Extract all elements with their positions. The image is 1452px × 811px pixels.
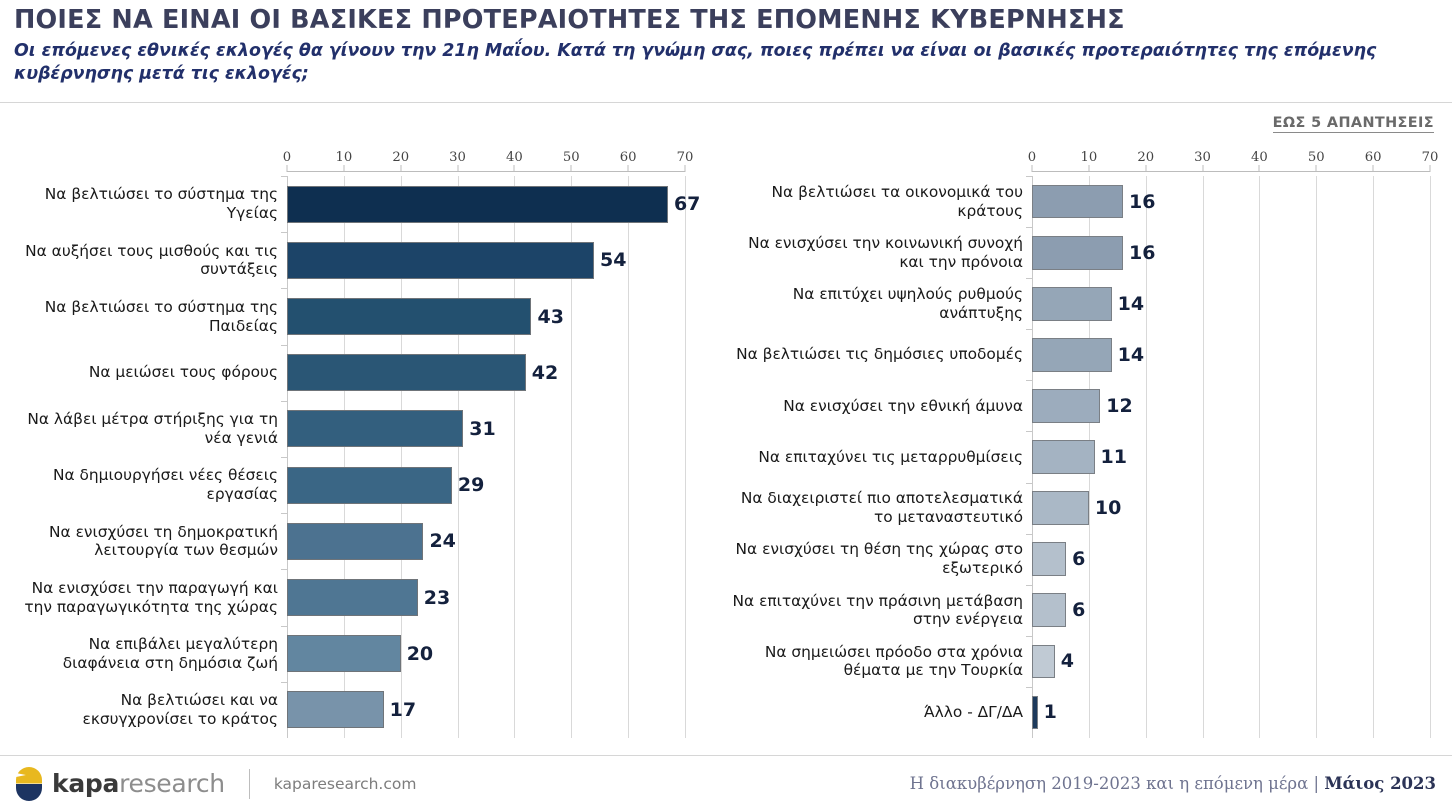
bar-value-label: 17 (390, 699, 416, 721)
bar[interactable]: 29 (287, 467, 452, 504)
chart-row: Να επιτύχει υψηλούς ρυθμούς ανάπτυξης14 (1032, 278, 1430, 329)
x-tick-mark (287, 165, 288, 172)
category-label: Να επιβάλει μεγαλύτερη διαφάνεια στη δημ… (7, 635, 287, 673)
logo-url[interactable]: kaparesearch.com (274, 775, 417, 793)
bar-value-label: 1 (1044, 701, 1057, 723)
x-tick-label: 20 (392, 150, 409, 165)
bar-value-label: 14 (1118, 344, 1144, 366)
x-tick-label: 20 (1137, 150, 1154, 165)
x-tick-mark (1430, 165, 1431, 172)
chart-row: Άλλο - ΔΓ/ΔΑ1 (1032, 687, 1430, 738)
bar-value-label: 4 (1061, 650, 1074, 672)
x-tick-mark (571, 165, 572, 172)
bar[interactable]: 20 (287, 635, 401, 672)
category-label: Να ενισχύσει την κοινωνική συνοχή και τη… (727, 234, 1032, 272)
footer-study-info: Η διακυβέρνηση 2019-2023 και η επόμενη μ… (910, 774, 1436, 793)
x-tick-label: 60 (1365, 150, 1382, 165)
x-tick-label: 0 (283, 150, 291, 165)
bar[interactable]: 31 (287, 410, 463, 447)
x-tick-label: 10 (335, 150, 352, 165)
x-tick-label: 10 (1080, 150, 1097, 165)
chart-row: Να ενισχύσει την εθνική άμυνα12 (1032, 380, 1430, 431)
bar[interactable]: 43 (287, 298, 531, 335)
x-tick-mark (343, 165, 344, 172)
x-tick-mark (1373, 165, 1374, 172)
bar[interactable]: 6 (1032, 542, 1066, 576)
page-subtitle: Οι επόμενες εθνικές εκλογές θα γίνουν τη… (14, 40, 1438, 87)
answer-limit-note: ΕΩΣ 5 ΑΠΑΝΤΗΣΕΙΣ (1273, 115, 1434, 133)
chart-row: Να βελτιώσει τα οικονομικά του κράτους16 (1032, 176, 1430, 227)
category-label: Να ενισχύσει τη θέση της χώρας στο εξωτε… (727, 540, 1032, 578)
chart-row: Να βελτιώσει το σύστημα της Παιδείας43 (287, 288, 685, 344)
bar[interactable]: 10 (1032, 491, 1089, 525)
chart-row: Να διαχειριστεί πιο αποτελεσματικά το με… (1032, 483, 1430, 534)
x-tick-mark (1145, 165, 1146, 172)
category-label: Να βελτιώσει το σύστημα της Παιδείας (7, 298, 287, 336)
logo-wordmark: kaparesearch (52, 771, 225, 796)
chart-row: Να επιταχύνει την πράσινη μετάβαση στην … (1032, 585, 1430, 636)
bar[interactable]: 23 (287, 579, 418, 616)
x-tick-mark (1202, 165, 1203, 172)
x-tick-mark (1316, 165, 1317, 172)
chart-row: Να βελτιώσει το σύστημα της Υγείας67 (287, 176, 685, 232)
bar-value-label: 54 (600, 249, 626, 271)
chart-row: Να βελτιώσει και να εκσυγχρονίσει το κρά… (287, 682, 685, 738)
bar[interactable]: 16 (1032, 185, 1123, 219)
bar-value-label: 67 (674, 193, 700, 215)
bar[interactable]: 6 (1032, 593, 1066, 627)
bar[interactable]: 14 (1032, 287, 1112, 321)
bar-value-label: 43 (537, 306, 563, 328)
category-label: Να ενισχύσει την παραγωγή και την παραγω… (7, 579, 287, 617)
x-tick-label: 30 (449, 150, 466, 165)
x-tick-label: 60 (620, 150, 637, 165)
category-label: Να βελτιώσει τα οικονομικά του κράτους (727, 183, 1032, 221)
logo-separator (249, 769, 250, 799)
x-tick-label: 40 (1251, 150, 1268, 165)
x-tick-mark (1088, 165, 1089, 172)
bar[interactable]: 67 (287, 186, 668, 223)
bar[interactable]: 4 (1032, 645, 1055, 679)
chart-row: Να ενισχύσει την παραγωγή και την παραγω… (287, 569, 685, 625)
category-label: Να ενισχύσει τη δημοκρατική λειτουργία τ… (7, 523, 287, 561)
bar[interactable]: 16 (1032, 236, 1123, 270)
category-label: Να ενισχύσει την εθνική άμυνα (727, 397, 1032, 416)
chart-row: Να ενισχύσει τη δημοκρατική λειτουργία τ… (287, 513, 685, 569)
footer-study-title: Η διακυβέρνηση 2019-2023 και η επόμενη μ… (910, 774, 1325, 793)
category-label: Να αυξήσει τους μισθούς και τις συντάξει… (7, 242, 287, 280)
chart-page: ΠΟΙΕΣ ΝΑ ΕΙΝΑΙ ΟΙ ΒΑΣΙΚΕΣ ΠΡΟΤΕΡΑΙΟΤΗΤΕΣ… (0, 0, 1452, 811)
category-label: Να επιταχύνει τις μεταρρυθμίσεις (727, 448, 1032, 467)
plot-area-left: Να βελτιώσει το σύστημα της Υγείας67Να α… (287, 176, 685, 738)
footer-date: Μάιος 2023 (1324, 774, 1436, 793)
gridline (1430, 176, 1431, 738)
chart-row: Να λάβει μέτρα στήριξης για τη νέα γενιά… (287, 401, 685, 457)
answer-limit-note-wrap: ΕΩΣ 5 ΑΠΑΝΤΗΣΕΙΣ (1273, 112, 1434, 133)
chart-row: Να βελτιώσει τις δημόσιες υποδομές14 (1032, 329, 1430, 380)
bar[interactable]: 54 (287, 242, 594, 279)
bar[interactable]: 14 (1032, 338, 1112, 372)
category-label: Να σημειώσει πρόοδο στα χρόνια θέματα με… (727, 643, 1032, 681)
x-axis-right: 010203040506070 (1032, 150, 1430, 176)
category-label: Να βελτιώσει και να εκσυγχρονίσει το κρά… (7, 691, 287, 729)
x-tick-label: 50 (563, 150, 580, 165)
x-tick-mark (514, 165, 515, 172)
logo-text-bold: kapa (52, 769, 119, 798)
chart-row: Να μειώσει τους φόρους42 (287, 345, 685, 401)
plot-area-right: Να βελτιώσει τα οικονομικά του κράτους16… (1032, 176, 1430, 738)
x-tick-label: 70 (677, 150, 694, 165)
x-tick-label: 70 (1422, 150, 1439, 165)
bar-value-label: 12 (1106, 395, 1132, 417)
chart-row: Να ενισχύσει την κοινωνική συνοχή και τη… (1032, 227, 1430, 278)
bar-value-label: 29 (458, 474, 484, 496)
chart-row: Να αυξήσει τους μισθούς και τις συντάξει… (287, 232, 685, 288)
bar-value-label: 16 (1129, 242, 1155, 264)
bar[interactable]: 42 (287, 354, 526, 391)
bar[interactable]: 24 (287, 523, 423, 560)
bar[interactable]: 11 (1032, 440, 1095, 474)
x-tick-mark (628, 165, 629, 172)
bar-value-label: 24 (429, 530, 455, 552)
charts-container: 010203040506070 Να βελτιώσει το σύστημα … (0, 150, 1452, 750)
bar-value-label: 6 (1072, 548, 1085, 570)
bar-value-label: 14 (1118, 293, 1144, 315)
x-tick-mark (400, 165, 401, 172)
bar-value-label: 6 (1072, 599, 1085, 621)
category-label: Να δημιουργήσει νέες θέσεις εργασίας (7, 466, 287, 504)
category-label: Να μειώσει τους φόρους (7, 363, 287, 382)
chart-row: Να επιβάλει μεγαλύτερη διαφάνεια στη δημ… (287, 626, 685, 682)
bar-value-label: 42 (532, 362, 558, 384)
chart-panel-left: 010203040506070 Να βελτιώσει το σύστημα … (6, 150, 718, 750)
x-tick-mark (1032, 165, 1033, 172)
x-tick-mark (1259, 165, 1260, 172)
bar[interactable]: 1 (1032, 696, 1038, 730)
category-label: Να επιτύχει υψηλούς ρυθμούς ανάπτυξης (727, 285, 1032, 323)
footer: kaparesearch kaparesearch.com Η διακυβέρ… (0, 755, 1452, 811)
x-tick-label: 50 (1308, 150, 1325, 165)
logo-text-light: research (119, 769, 225, 798)
category-label: Να επιταχύνει την πράσινη μετάβαση στην … (727, 592, 1032, 630)
bar[interactable]: 12 (1032, 389, 1100, 423)
bar-value-label: 31 (469, 418, 495, 440)
x-tick-label: 30 (1194, 150, 1211, 165)
bar-value-label: 16 (1129, 191, 1155, 213)
category-label: Να λάβει μέτρα στήριξης για τη νέα γενιά (7, 410, 287, 448)
gridline (685, 176, 686, 738)
logo-mark-icon (16, 767, 42, 801)
bar[interactable]: 17 (287, 691, 384, 728)
header-divider (0, 102, 1452, 103)
x-axis-left: 010203040506070 (287, 150, 685, 176)
chart-panel-right: 010203040506070 Να βελτιώσει τα οικονομι… (726, 150, 1446, 750)
category-label: Να βελτιώσει τις δημόσιες υποδομές (727, 345, 1032, 364)
x-tick-mark (457, 165, 458, 172)
x-tick-label: 40 (506, 150, 523, 165)
bar-value-label: 10 (1095, 497, 1121, 519)
bar-value-label: 20 (407, 643, 433, 665)
category-label: Να βελτιώσει το σύστημα της Υγείας (7, 185, 287, 223)
chart-row: Να σημειώσει πρόοδο στα χρόνια θέματα με… (1032, 636, 1430, 687)
category-label: Να διαχειριστεί πιο αποτελεσματικά το με… (727, 489, 1032, 527)
category-label: Άλλο - ΔΓ/ΔΑ (727, 703, 1032, 722)
chart-row: Να επιταχύνει τις μεταρρυθμίσεις11 (1032, 431, 1430, 482)
bar-value-label: 11 (1101, 446, 1127, 468)
page-title: ΠΟΙΕΣ ΝΑ ΕΙΝΑΙ ΟΙ ΒΑΣΙΚΕΣ ΠΡΟΤΕΡΑΙΟΤΗΤΕΣ… (14, 6, 1438, 35)
kapa-research-logo: kaparesearch kaparesearch.com (16, 767, 416, 801)
chart-row: Να ενισχύσει τη θέση της χώρας στο εξωτε… (1032, 534, 1430, 585)
header: ΠΟΙΕΣ ΝΑ ΕΙΝΑΙ ΟΙ ΒΑΣΙΚΕΣ ΠΡΟΤΕΡΑΙΟΤΗΤΕΣ… (0, 0, 1452, 86)
bar-value-label: 23 (424, 587, 450, 609)
x-tick-label: 0 (1028, 150, 1036, 165)
x-tick-mark (685, 165, 686, 172)
chart-row: Να δημιουργήσει νέες θέσεις εργασίας29 (287, 457, 685, 513)
